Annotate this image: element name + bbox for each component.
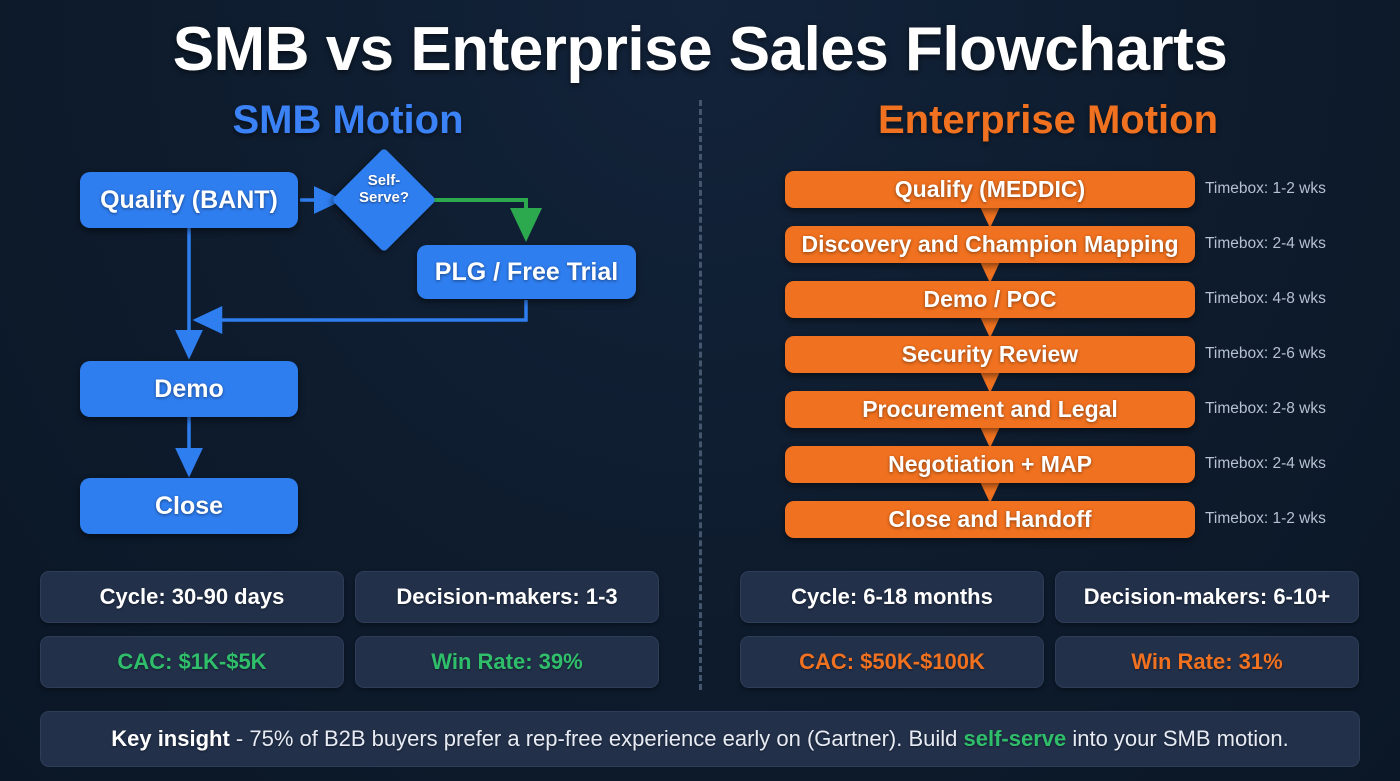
key-insight-after: into your SMB motion. [1066,726,1289,751]
enterprise-timebox-4: Timebox: 2-8 wks [1205,400,1326,418]
smb-metric-win-rate: Win Rate: 39% [355,636,659,688]
enterprise-node-3[interactable]: Security Review [785,336,1195,373]
enterprise-node-5[interactable]: Negotiation + MAP [785,446,1195,483]
enterprise-timebox-5: Timebox: 2-4 wks [1205,455,1326,473]
enterprise-timebox-3: Timebox: 2-6 wks [1205,345,1326,363]
key-insight-text: Key insight - 75% of B2B buyers prefer a… [111,726,1289,752]
enterprise-node-4[interactable]: Procurement and Legal [785,391,1195,428]
key-insight-bar: Key insight - 75% of B2B buyers prefer a… [40,711,1360,767]
enterprise-node-6[interactable]: Close and Handoff [785,501,1195,538]
enterprise-timebox-1: Timebox: 2-4 wks [1205,235,1326,253]
enterprise-metric-cycle: Cycle: 6-18 months [740,571,1044,623]
enterprise-timebox-0: Timebox: 1-2 wks [1205,180,1326,198]
smb-metric-decision-makers: Decision-makers: 1-3 [355,571,659,623]
enterprise-metric-win-rate: Win Rate: 31% [1055,636,1359,688]
enterprise-timebox-2: Timebox: 4-8 wks [1205,290,1326,308]
key-insight-highlight: self-serve [963,726,1066,751]
enterprise-node-1[interactable]: Discovery and Champion Mapping [785,226,1195,263]
key-insight-lead: Key insight [111,726,230,751]
smb-metric-cac: CAC: $1K-$5K [40,636,344,688]
key-insight-before: - 75% of B2B buyers prefer a rep-free ex… [230,726,964,751]
enterprise-metric-cac: CAC: $50K-$100K [740,636,1044,688]
enterprise-timebox-6: Timebox: 1-2 wks [1205,510,1326,528]
enterprise-node-0[interactable]: Qualify (MEDDIC) [785,171,1195,208]
enterprise-node-2[interactable]: Demo / POC [785,281,1195,318]
smb-metric-cycle: Cycle: 30-90 days [40,571,344,623]
infographic-canvas: SMB vs Enterprise Sales Flowcharts SMB M… [0,0,1400,781]
enterprise-metric-decision-makers: Decision-makers: 6-10+ [1055,571,1359,623]
